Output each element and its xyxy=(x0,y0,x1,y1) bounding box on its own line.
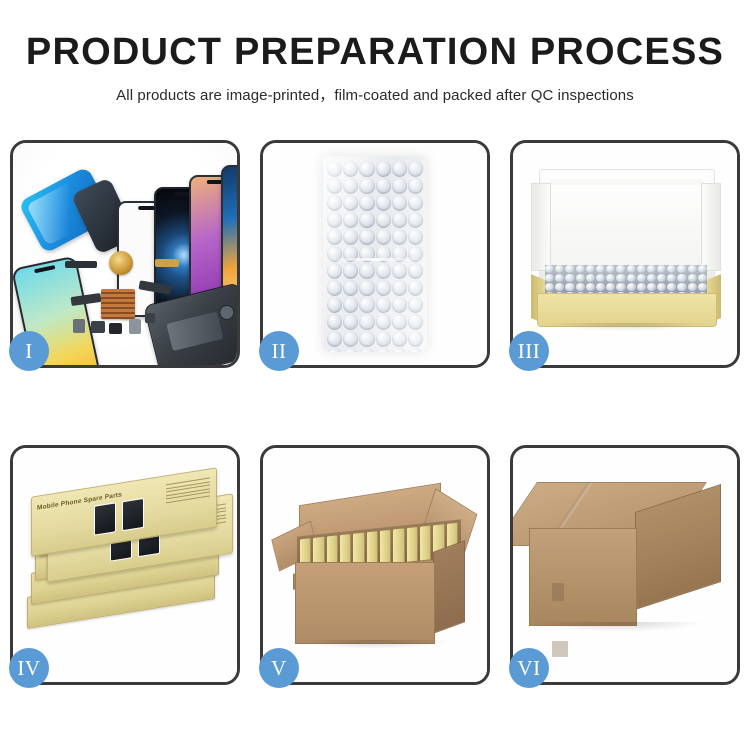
step-image-5 xyxy=(263,448,487,682)
steps-grid: I xyxy=(0,0,750,750)
box-printed-screen xyxy=(94,502,116,535)
step-badge-6: VI xyxy=(509,648,549,688)
step-badge-5: V xyxy=(259,648,299,688)
small-part-3 xyxy=(109,323,122,334)
carton-tape-mark xyxy=(552,583,564,601)
sealed-shipping-carton xyxy=(529,482,725,650)
step-panel-6[interactable]: VI xyxy=(510,445,740,685)
box-lid-flap-left xyxy=(531,183,551,271)
flex-cable-part-3 xyxy=(155,259,179,267)
retail-box-stack: Mobile Phone Spare Parts Mobile Phone Sp… xyxy=(25,478,225,654)
step-badge-4: IV xyxy=(9,648,49,688)
small-part-4 xyxy=(129,319,141,334)
copper-coil-part xyxy=(109,251,133,275)
carton-tape-mark xyxy=(552,641,568,657)
step-badge-1: I xyxy=(9,331,49,371)
open-shipping-carton xyxy=(277,478,475,654)
small-part-2 xyxy=(91,321,105,333)
carton-side-panel xyxy=(433,540,465,634)
step-panel-4[interactable]: Mobile Phone Spare Parts Mobile Phone Sp… xyxy=(10,445,240,685)
small-part-5 xyxy=(145,313,155,323)
carton-shadow xyxy=(299,640,449,649)
chip-grid-part xyxy=(101,289,135,319)
step-image-6 xyxy=(513,448,737,682)
step-badge-3: III xyxy=(509,331,549,371)
step-panel-5[interactable]: V xyxy=(260,445,490,685)
product-preparation-infographic: PRODUCT PREPARATION PROCESS All products… xyxy=(0,0,750,750)
box-printed-screen xyxy=(122,498,144,531)
inner-box-open xyxy=(531,169,721,343)
step-image-4: Mobile Phone Spare Parts Mobile Phone Sp… xyxy=(13,448,237,682)
step-image-3 xyxy=(513,143,737,365)
carton-front-panel xyxy=(295,562,435,644)
step-badge-2: II xyxy=(259,331,299,371)
phone-screen-blue-orange xyxy=(221,165,237,293)
bubble-wrapped-product xyxy=(323,156,427,352)
step-image-1 xyxy=(13,143,237,365)
wrap-sheen xyxy=(323,156,427,352)
carton-shadow xyxy=(535,622,705,632)
battery-connector-part xyxy=(65,261,97,268)
box-tray-front xyxy=(537,293,717,327)
carton-front-face xyxy=(529,528,637,626)
step-image-2 xyxy=(263,143,487,365)
step-panel-3[interactable]: III xyxy=(510,140,740,368)
step-panel-1[interactable]: I xyxy=(10,140,240,368)
small-part-1 xyxy=(73,319,85,333)
box-lid-back xyxy=(539,169,715,279)
box-lid-flap-right xyxy=(701,183,721,271)
step-panel-2[interactable]: II xyxy=(260,140,490,368)
box-shadow xyxy=(545,323,707,331)
box-printed-text-lines xyxy=(166,477,210,505)
